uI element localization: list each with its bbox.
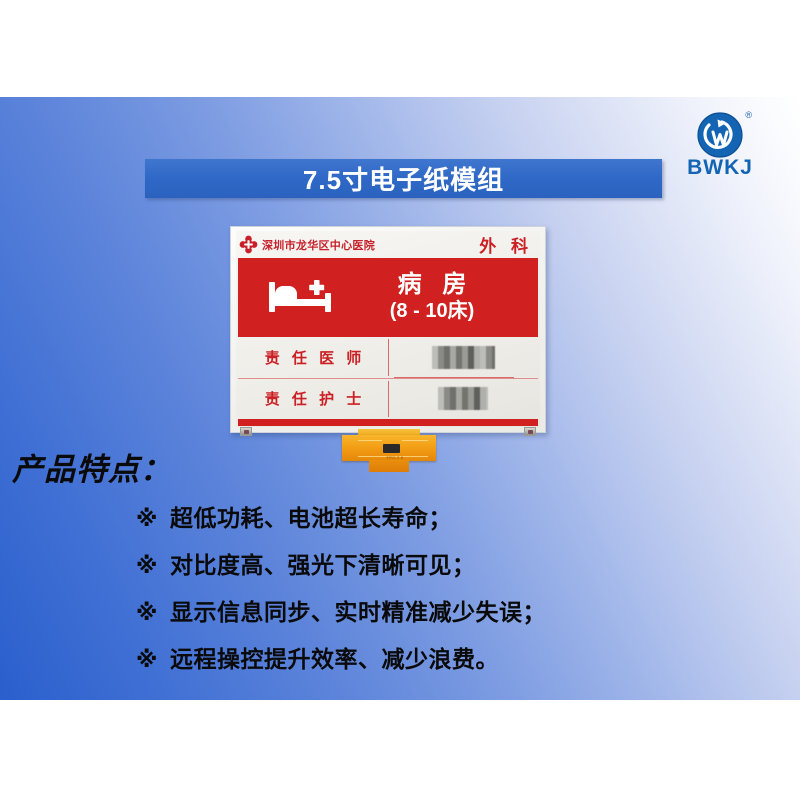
registered-trademark-icon: ® bbox=[745, 111, 752, 120]
fpc-body: FPC-7.5 bbox=[342, 435, 436, 461]
driver-chip-icon bbox=[383, 444, 400, 453]
department-label: 外 科 bbox=[479, 232, 535, 257]
fpc-trace bbox=[402, 440, 428, 441]
feature-text: 显示信息同步、实时精准减少失误； bbox=[170, 593, 546, 627]
table-row: 责 任 护 士 张 岩 bbox=[238, 378, 538, 420]
room-bed-range: (8 - 10床) bbox=[340, 299, 524, 323]
logo-wordmark: BWKJ bbox=[662, 157, 778, 179]
list-item: ※ 超低功耗、电池超长寿命； bbox=[136, 499, 776, 546]
list-item: ※ 远程操控提升效率、减少浪费。 bbox=[136, 640, 776, 687]
panel-clip-right bbox=[524, 427, 536, 436]
feature-text: 对比度高、强光下清晰可见； bbox=[170, 546, 476, 580]
hospital-name: 深圳市龙华区中心医院 bbox=[262, 237, 375, 253]
epaper-panel: 深圳市龙华区中心医院 外 科 bbox=[230, 226, 546, 433]
panel-clip-left bbox=[240, 427, 252, 436]
features-list: ※ 超低功耗、电池超长寿命； ※ 对比度高、强光下清晰可见； ※ 显示信息同步、… bbox=[136, 499, 776, 687]
epaper-screen: 深圳市龙华区中心医院 外 科 bbox=[236, 231, 540, 427]
reference-mark-icon: ※ bbox=[136, 553, 170, 579]
features-heading: 产品特点： bbox=[12, 444, 172, 489]
company-logo: ® BWKJ bbox=[662, 112, 778, 178]
epaper-module: 深圳市龙华区中心医院 外 科 bbox=[230, 226, 546, 433]
fpc-ribbon-cable: FPC-7.5 bbox=[336, 429, 442, 472]
reference-mark-icon: ※ bbox=[136, 600, 170, 626]
fpc-trace bbox=[358, 440, 382, 441]
list-item: ※ 显示信息同步、实时精准减少失误； bbox=[136, 593, 776, 640]
room-info: 病 房 (8 - 10床) bbox=[340, 272, 538, 323]
hospital-clover-cross-icon bbox=[239, 235, 258, 254]
table-row: 责 任 医 师 钟南山 bbox=[238, 337, 538, 378]
hospital-bed-icon bbox=[266, 275, 340, 321]
feature-text: 远程操控提升效率、减少浪费。 bbox=[170, 640, 499, 674]
redacted-name-mosaic: 钟南山 bbox=[435, 345, 492, 370]
reference-mark-icon: ※ bbox=[136, 506, 170, 532]
slide-canvas: ® BWKJ 7.5寸电子纸模组 bbox=[0, 97, 800, 700]
fpc-tail bbox=[369, 460, 409, 472]
feature-text: 超低功耗、电池超长寿命； bbox=[170, 499, 452, 533]
room-title: 病 房 bbox=[340, 272, 524, 298]
display-header: 深圳市龙华区中心医院 外 科 bbox=[236, 231, 540, 258]
page-title-banner: 7.5寸电子纸模组 bbox=[145, 159, 662, 198]
reference-mark-icon: ※ bbox=[136, 647, 170, 673]
bwkj-circle-arrow-logo-icon: ® bbox=[697, 112, 743, 158]
staff-name-value: 张 岩 bbox=[388, 386, 538, 411]
staff-role-label: 责 任 护 士 bbox=[238, 388, 388, 409]
row-underline bbox=[394, 377, 514, 378]
page-title: 7.5寸电子纸模组 bbox=[303, 160, 504, 197]
list-item: ※ 对比度高、强光下清晰可见； bbox=[136, 546, 776, 593]
staff-role-label: 责 任 医 师 bbox=[238, 347, 388, 368]
staff-name-value: 钟南山 bbox=[388, 345, 538, 370]
room-banner: 病 房 (8 - 10床) bbox=[238, 258, 538, 337]
staff-table: 责 任 医 师 钟南山 责 任 护 士 张 岩 bbox=[238, 337, 538, 419]
redacted-name-mosaic: 张 岩 bbox=[441, 386, 486, 411]
display-bottom-bar bbox=[238, 419, 538, 426]
